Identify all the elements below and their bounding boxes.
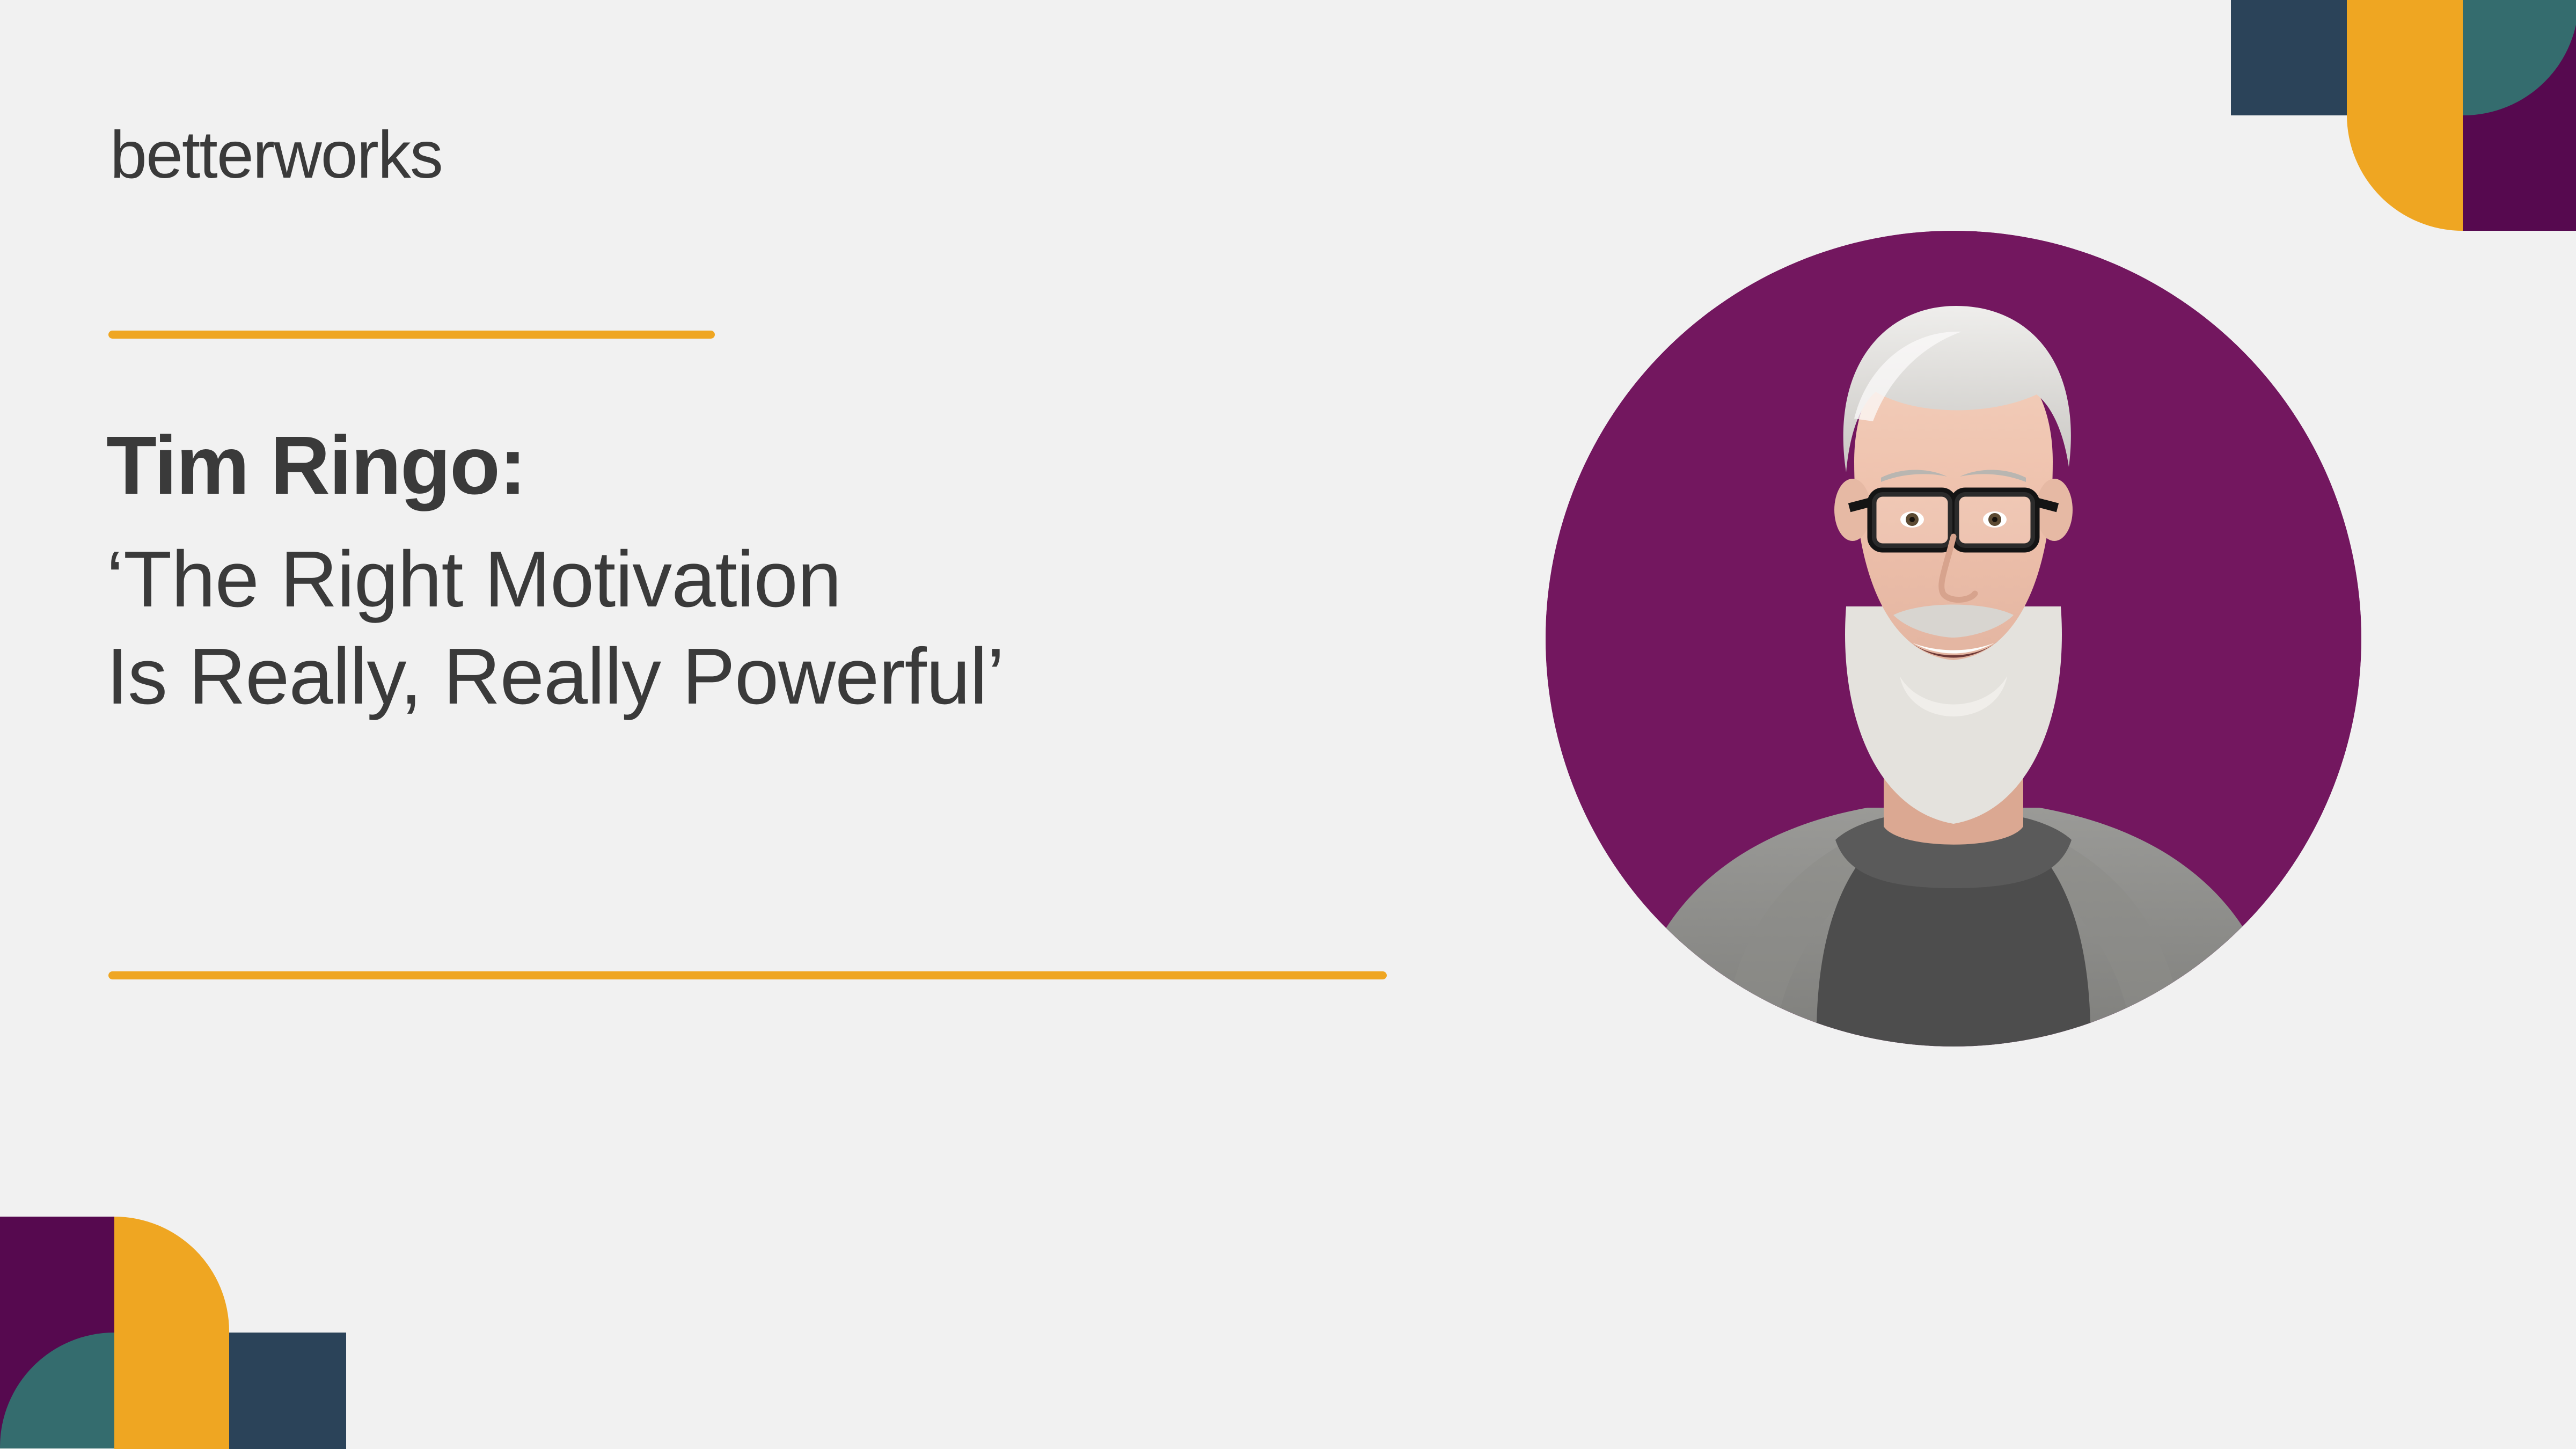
svg-text:betterworks: betterworks	[110, 122, 442, 192]
betterworks-logo: betterworks betterworks	[110, 122, 754, 192]
purple-square-icon	[0, 1217, 114, 1333]
divider-top	[108, 331, 715, 339]
betterworks-wordmark-icon: betterworks	[110, 122, 754, 192]
portrait-avatar: Portrait of Tim Ringo — smiling man with…	[1546, 231, 2361, 1046]
headline-subtitle: ‘The Right Motivation Is Really, Really …	[106, 531, 1555, 725]
yellow-rounded-column-icon	[114, 1217, 229, 1449]
navy-square-icon	[229, 1333, 346, 1449]
page-title: Tim Ringo:	[106, 424, 1555, 507]
headline-block: Tim Ringo: ‘The Right Motivation Is Real…	[106, 424, 1555, 725]
divider-bottom	[108, 971, 1387, 979]
portrait-illustration-icon	[1546, 231, 2361, 1046]
promo-card: betterworks betterworks Tim Ringo: ‘The …	[0, 0, 2576, 1449]
yellow-rounded-column-icon	[2347, 0, 2463, 231]
navy-square-icon	[2231, 0, 2347, 115]
corner-blocks-bottom-left	[0, 1217, 346, 1449]
headline-subtitle-line-2: Is Really, Really Powerful’	[106, 628, 1555, 726]
corner-blocks-top-right	[2231, 0, 2576, 231]
purple-square-icon	[2463, 115, 2576, 231]
teal-quarter-circle-icon	[2463, 0, 2576, 115]
teal-quarter-circle-icon	[0, 1333, 114, 1448]
headline-subtitle-line-1: ‘The Right Motivation	[106, 531, 1555, 628]
